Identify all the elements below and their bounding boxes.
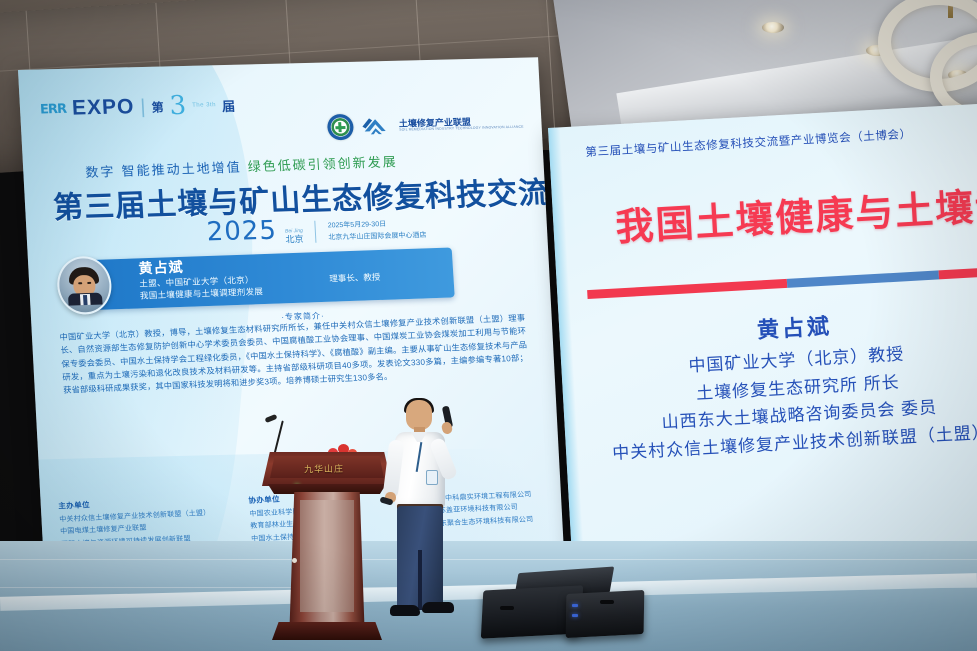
expo-logo: ERR EXPO | 第 3 The 3th 届 — [39, 90, 235, 125]
expo-edition-english: The 3th — [192, 102, 216, 109]
monitor-led-indicator — [572, 614, 578, 617]
podium-column-inlay — [300, 500, 354, 612]
expo-wordmark: EXPO — [71, 95, 135, 120]
person-left-shoe — [390, 605, 420, 616]
ring-chandelier — [872, 0, 977, 98]
event-city: Bei Jing 北京 — [285, 228, 304, 245]
expo-edition-number: 3 — [169, 91, 187, 121]
expo-edition-suffix: 届 — [222, 95, 236, 114]
person-leg-separation — [418, 550, 422, 610]
soil-alliance-logo-icon — [360, 115, 391, 138]
event-year: 2025 — [206, 216, 278, 248]
speaker-bio: 中国矿业大学（北京）教授，博导，土壤修复生态材料研究所所长，兼任中关村众信土壤修… — [59, 312, 529, 398]
divider-segment-red — [587, 279, 787, 299]
podium-engraved-text: 九华山庄 — [304, 462, 344, 476]
monitor-handle — [500, 606, 514, 610]
circular-green-emblem-icon — [326, 114, 353, 141]
soil-alliance-logo-label: 土壤修复产业联盟 SOIL REMEDIATION INDUSTRY TECHN… — [399, 116, 524, 132]
screenshot-root: ERR EXPO | 第 3 The 3th 届 土壤修复产 — [0, 0, 977, 651]
monitor-handle — [600, 600, 614, 604]
event-datetime-venue: 2025年5月29-30日 北京九华山庄国际会展中心酒店 — [327, 218, 426, 244]
expo-edition-prefix: 第 — [151, 98, 164, 115]
person-head — [406, 400, 432, 430]
divider-segment-red-2 — [939, 268, 977, 280]
expo-mark-icon: ERR — [40, 101, 67, 117]
divider — [314, 221, 316, 243]
podium-base — [272, 622, 382, 640]
slide-divider-bar — [587, 268, 977, 299]
monitor-led-indicator — [572, 604, 578, 607]
sponsor-logos: 土壤修复产业联盟 SOIL REMEDIATION INDUSTRY TECHN… — [326, 110, 524, 141]
slide-subtitle: 第三届土壤与矿山生态修复科技交流暨产业博览会（土博会） — [585, 126, 912, 160]
speaker-person — [378, 400, 458, 650]
slide-affiliations: 中国矿业大学（北京）教授 土壤修复生态研究所 所长 山西东大土壤战略咨询委员会 … — [561, 333, 977, 469]
podium-button — [292, 558, 297, 563]
downlight-icon — [762, 22, 784, 33]
event-date-block: 2025 Bei Jing 北京 2025年5月29-30日 北京九华山庄国际会… — [206, 212, 427, 247]
speaker-name: 黄占斌 — [138, 257, 184, 279]
podium: 九华山庄 — [262, 440, 392, 645]
speaker-role: 理事长、教授 — [329, 271, 381, 285]
person-right-shoe — [422, 602, 454, 613]
person-name-badge — [426, 470, 438, 485]
divider-segment-blue — [787, 270, 939, 287]
expo-separator: | — [140, 95, 146, 118]
slide-title: 我国土壤健康与土壤调 — [614, 174, 977, 251]
